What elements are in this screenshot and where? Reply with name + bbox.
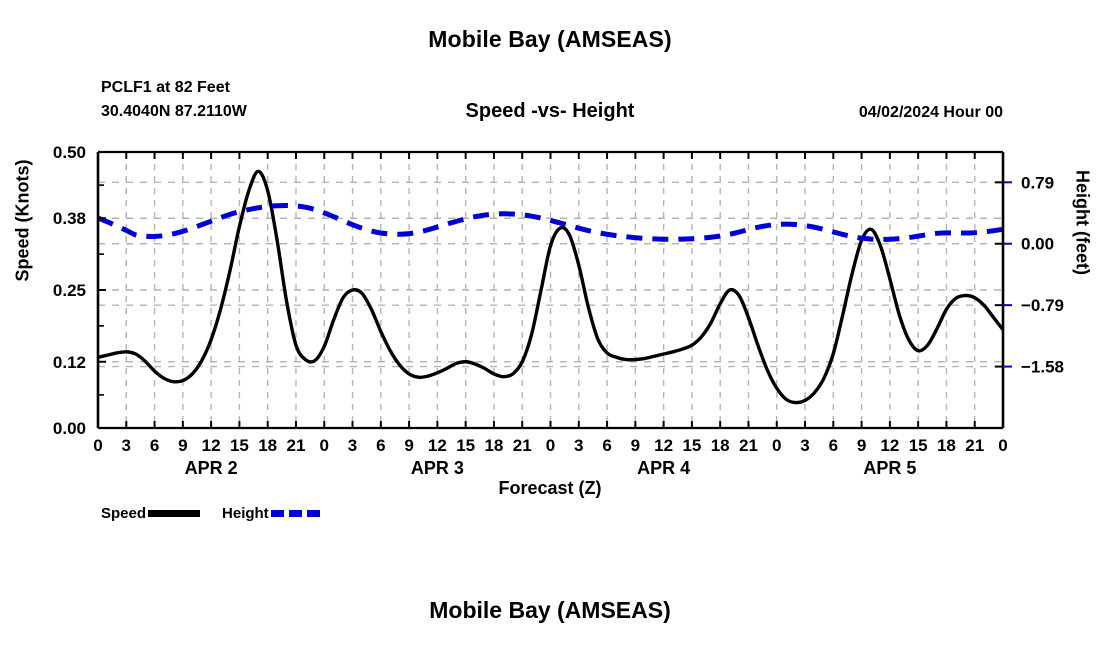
y-tick-label-left: 0.12 [53,353,86,372]
x-axis-title: Forecast (Z) [0,478,1100,499]
legend-swatch-speed [148,510,200,517]
x-tick-label: 21 [513,436,532,455]
x-tick-label: 0 [772,436,781,455]
chart-plot-area: 0369121518210369121518210369121518210369… [0,0,1100,500]
x-tick-label: 21 [965,436,984,455]
x-tick-label: 18 [484,436,503,455]
y-tick-label-right: −0.79 [1021,296,1064,315]
x-tick-label: 0 [546,436,555,455]
x-tick-label: 6 [602,436,611,455]
x-tick-label: 21 [287,436,306,455]
legend-label-speed: Speed [101,505,146,522]
x-day-label: APR 5 [863,458,916,478]
x-tick-label: 15 [456,436,475,455]
x-day-label: APR 4 [637,458,690,478]
x-tick-label: 9 [178,436,187,455]
x-tick-label: 0 [320,436,329,455]
y-tick-label-right: −1.58 [1021,358,1064,377]
x-tick-label: 0 [998,436,1007,455]
chart-legend: Speed Height [101,505,323,522]
x-tick-label: 6 [829,436,838,455]
y-tick-label-right: 0.00 [1021,235,1054,254]
legend-item-speed: Speed [101,505,200,522]
x-day-label: APR 3 [411,458,464,478]
x-tick-label: 3 [122,436,131,455]
x-tick-label: 15 [682,436,701,455]
x-tick-label: 15 [909,436,928,455]
x-tick-label: 18 [711,436,730,455]
x-tick-label: 3 [800,436,809,455]
x-tick-label: 21 [739,436,758,455]
x-tick-label: 12 [202,436,221,455]
page-title-bottom: Mobile Bay (AMSEAS) [0,597,1100,624]
y-tick-label-left: 0.50 [53,143,86,162]
x-day-label: APR 2 [185,458,238,478]
x-tick-label: 18 [937,436,956,455]
x-tick-label: 0 [93,436,102,455]
legend-label-height: Height [222,505,269,522]
y-tick-label-left: 0.25 [53,281,86,300]
legend-item-height: Height [222,505,323,522]
x-tick-label: 9 [404,436,413,455]
x-tick-label: 9 [631,436,640,455]
x-tick-label: 18 [258,436,277,455]
x-tick-label: 12 [880,436,899,455]
y-tick-label-left: 0.00 [53,419,86,438]
legend-swatch-height [271,510,323,517]
x-tick-label: 15 [230,436,249,455]
x-tick-label: 9 [857,436,866,455]
x-tick-label: 6 [376,436,385,455]
x-tick-label: 3 [574,436,583,455]
x-tick-label: 3 [348,436,357,455]
series-line-height [98,205,1003,239]
x-tick-label: 12 [428,436,447,455]
x-tick-label: 12 [654,436,673,455]
y-tick-label-right: 0.79 [1021,173,1054,192]
x-tick-label: 6 [150,436,159,455]
chart-page: Mobile Bay (AMSEAS) PCLF1 at 82 Feet 30.… [0,0,1100,650]
y-tick-label-left: 0.38 [53,209,86,228]
